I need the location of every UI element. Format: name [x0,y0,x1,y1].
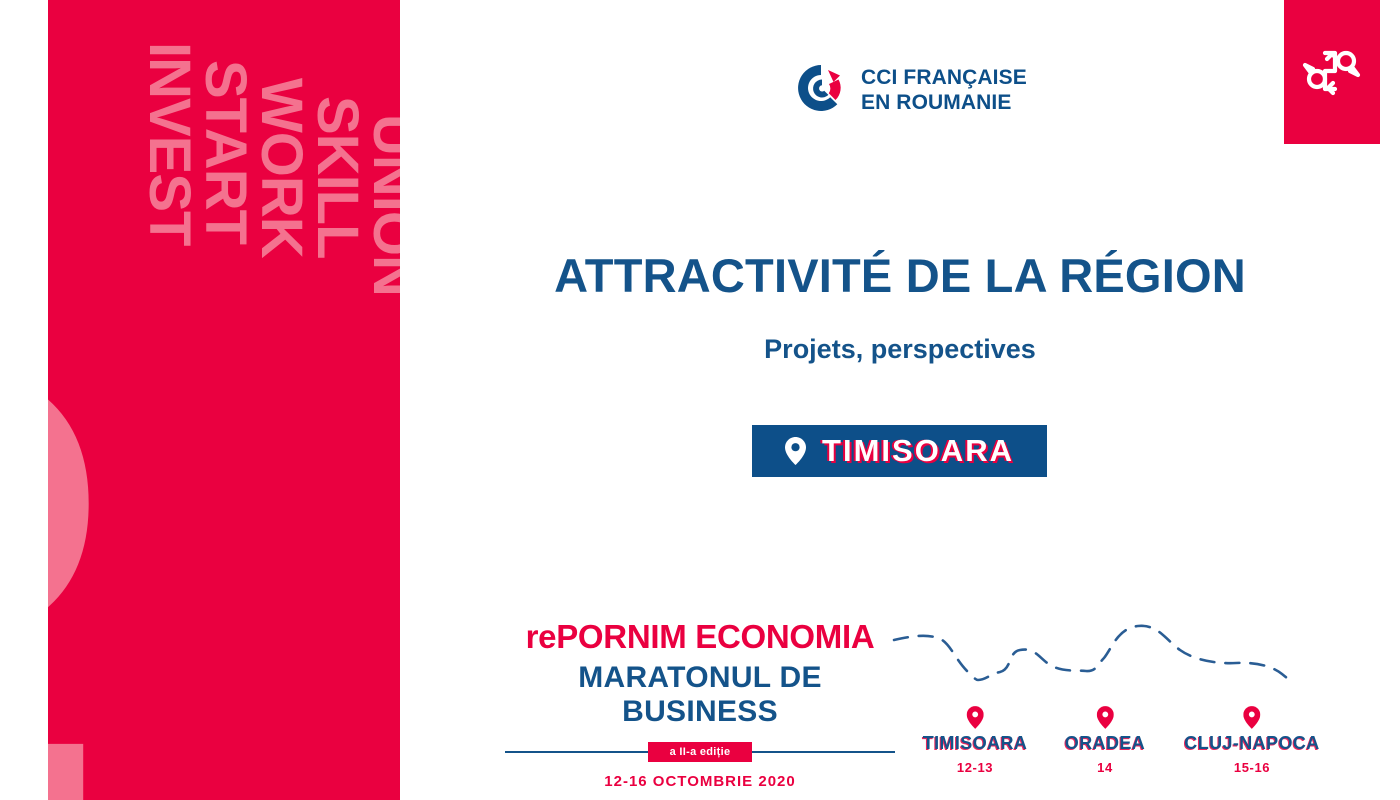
event-dates: 12-16 OCTOMBRIE 2020 [505,773,895,790]
cci-logo: CCI FRANÇAISE EN ROUMANIE [795,62,1027,119]
event-edition-row: a II-a ediție [505,742,895,762]
keyword-invest: INVEST [140,42,198,246]
map-pin-icon [1065,706,1145,729]
event-logo: rePORNIM ECONOMIA MARATONUL DE BUSINESS … [505,618,895,790]
route-stop-cluj-napoca: CLUJ-NAPOCA 15-16 [1184,706,1319,775]
route-path-icon [890,618,1340,708]
keyword-start: START [196,60,254,244]
location-badge: TIMISOARA [752,425,1047,477]
route-stop-name: TIMISOARA [923,733,1028,754]
route-stop-date: 14 [1065,760,1145,775]
event-title: rePORNIM ECONOMIA [505,618,895,656]
keyword-skill: SKILL [308,96,366,259]
route-stop-name: ORADEA [1065,733,1145,754]
route-stop-timisoara: TIMISOARA 12-13 [923,706,1028,775]
cci-logo-line1: CCI FRANÇAISE [861,66,1027,90]
left-brand-panel: re INVEST START WORK SKILL UNION [48,0,400,800]
edition-rule-right [752,751,895,753]
corner-brand-logo [1284,0,1380,144]
cci-logo-line2: EN ROUMANIE [861,91,1027,115]
route-stop-list: TIMISOARA 12-13 ORADEA 14 CLUJ-NAPOCA 15 [890,706,1340,766]
keyword-stack: INVEST START WORK SKILL UNION [48,0,400,330]
page-subtitle: Projets, perspectives [400,334,1400,365]
route-map: TIMISOARA 12-13 ORADEA 14 CLUJ-NAPOCA 15 [890,618,1340,768]
map-pin-icon [1184,706,1319,729]
keyword-work: WORK [252,78,310,258]
route-pins-icon [1301,41,1363,104]
route-stop-date: 12-13 [923,760,1028,775]
map-pin-icon [923,706,1028,729]
edition-badge: a II-a ediție [648,742,753,762]
map-pin-icon [785,437,806,465]
keyword-union: UNION [364,114,400,296]
page-title: ATTRACTIVITÉ DE LA RÉGION [400,248,1400,303]
cci-circle-icon [795,62,847,119]
cci-logo-text: CCI FRANÇAISE EN ROUMANIE [861,66,1027,114]
route-stop-date: 15-16 [1184,760,1319,775]
edition-rule-left [505,751,648,753]
location-badge-label: TIMISOARA [822,433,1014,469]
route-stop-oradea: ORADEA 14 [1065,706,1145,775]
route-stop-name: CLUJ-NAPOCA [1184,733,1319,754]
event-tagline: MARATONUL DE BUSINESS [505,661,895,729]
big-re-glyph: re [48,375,108,800]
